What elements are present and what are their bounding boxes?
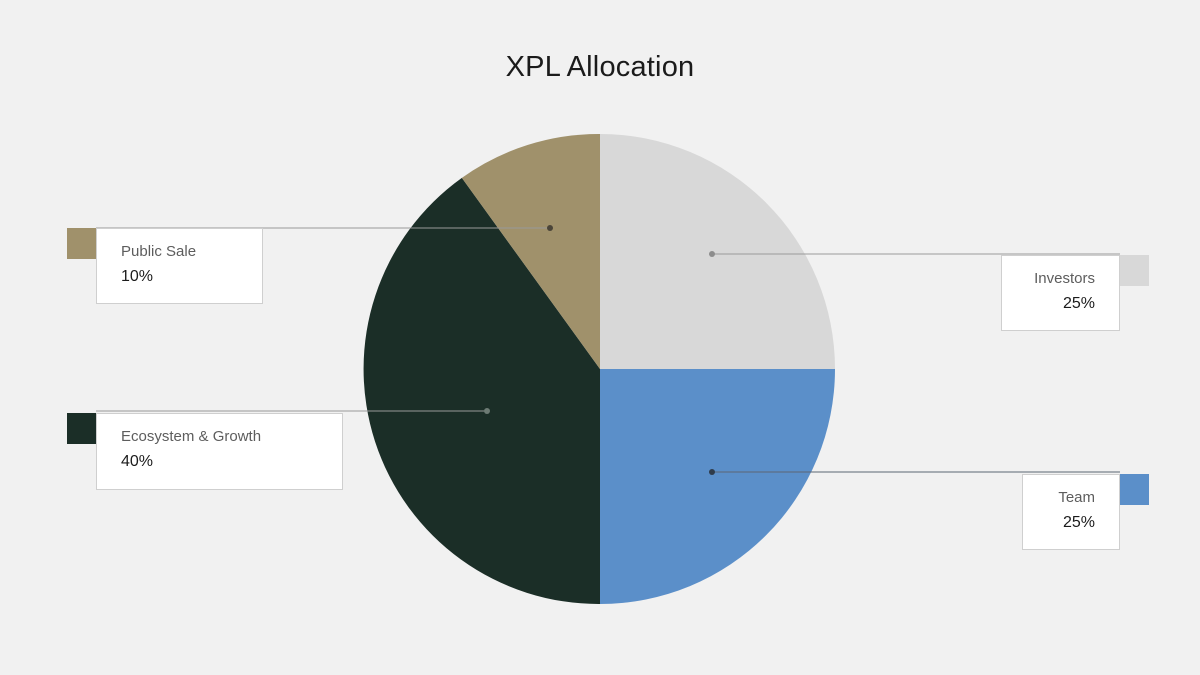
pie-chart [0, 0, 1200, 675]
legend-swatch-ecosystem-growth [67, 413, 99, 444]
leader-dot-public-sale [547, 225, 553, 231]
legend-swatch-public-sale [67, 228, 99, 259]
callout-box-team: Team 25% [1022, 474, 1120, 550]
leader-dot-investors [709, 251, 715, 257]
callout-box-investors: Investors 25% [1001, 255, 1120, 331]
callout-category-team: Team [1037, 487, 1095, 509]
callout-category-ecosystem-growth: Ecosystem & Growth [121, 426, 328, 448]
callout-percent-ecosystem-growth: 40% [121, 450, 328, 474]
callout-category-public-sale: Public Sale [121, 241, 248, 263]
leader-dot-ecosystem-growth [484, 408, 490, 414]
callout-box-public-sale: Public Sale 10% [96, 228, 263, 304]
leader-dot-team [709, 469, 715, 475]
pie-slice-investors[interactable] [600, 134, 835, 369]
legend-swatch-investors [1117, 255, 1149, 286]
pie-slices [364, 134, 835, 604]
callout-category-investors: Investors [1016, 268, 1095, 290]
callout-percent-team: 25% [1037, 511, 1095, 535]
pie-slice-team[interactable] [600, 369, 835, 604]
legend-swatch-team [1117, 474, 1149, 505]
chart-canvas: XPL Allocation [0, 0, 1200, 675]
callout-percent-public-sale: 10% [121, 265, 248, 289]
callout-percent-investors: 25% [1016, 292, 1095, 316]
callout-box-ecosystem-growth: Ecosystem & Growth 40% [96, 413, 343, 490]
